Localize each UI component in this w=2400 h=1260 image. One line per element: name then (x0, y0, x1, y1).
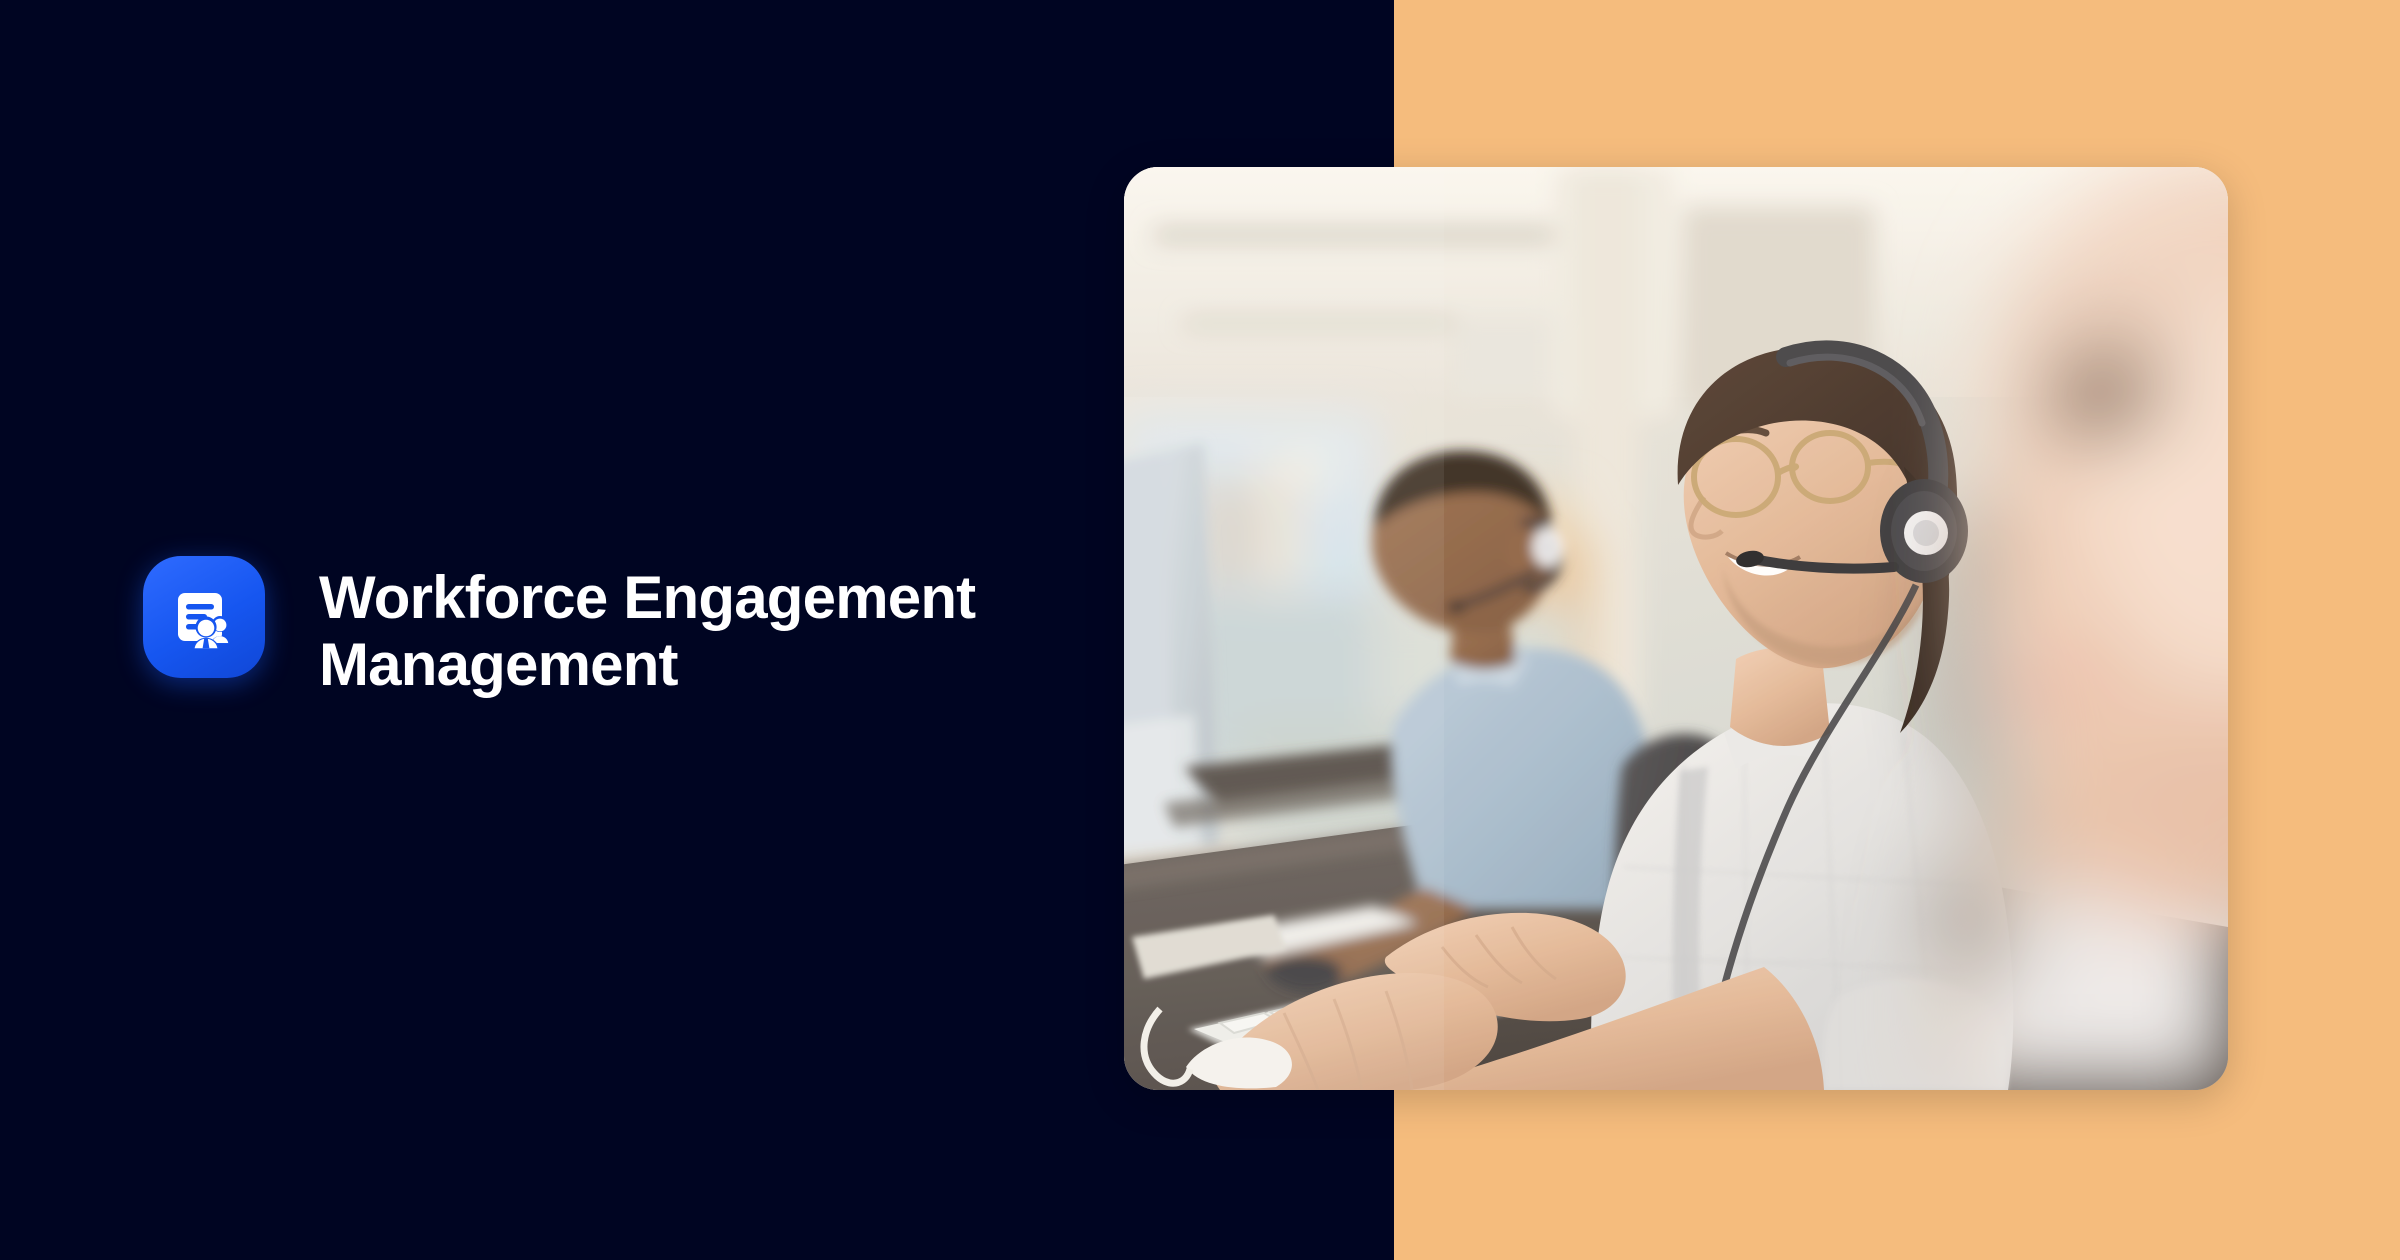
brand-badge (143, 556, 265, 678)
document-people-icon (167, 580, 241, 654)
call-center-agents-photo (1124, 167, 2228, 1090)
headline-block: Workforce Engagement Management (143, 556, 975, 698)
page-title: Workforce Engagement Management (319, 556, 975, 698)
workforce-engagement-banner: Workforce Engagement Management (0, 0, 2400, 1260)
